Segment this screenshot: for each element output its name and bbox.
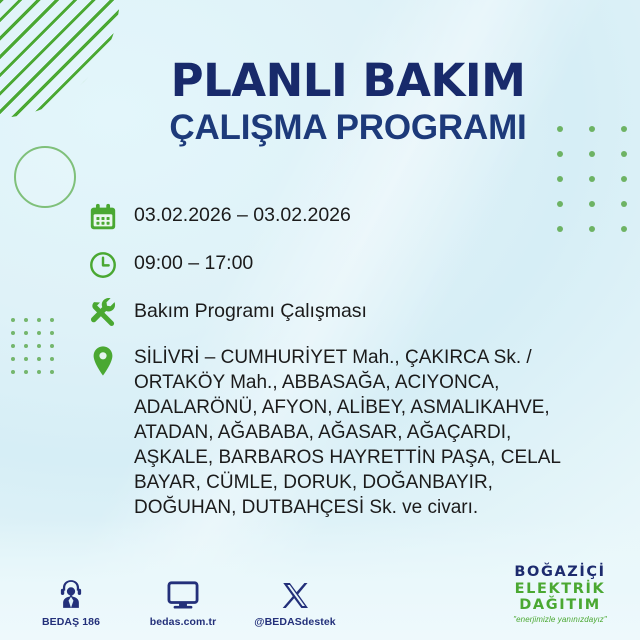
title-line-1: PLANLI BAKIM [148,58,548,103]
info-row-date: 03.02.2026 – 03.02.2026 [86,200,600,234]
monitor-website-icon [167,576,199,610]
tools-icon [86,296,120,330]
time-range-text: 09:00 – 17:00 [134,248,253,274]
brand-line-1: BOĞAZİÇİ [494,564,626,580]
date-range-text: 03.02.2026 – 03.02.2026 [134,200,351,226]
info-row-work: Bakım Programı Çalışması [86,296,600,330]
map-pin-icon [86,344,120,378]
info-list: 03.02.2026 – 03.02.2026 09:00 – 17:00 [86,200,600,535]
brand-tagline: "enerjimizle yanınızdayız" [494,615,626,624]
footer: BEDAŞ 186 bedas.com.tr [0,548,640,640]
page-title: PLANLI BAKIM ÇALIŞMA PROGRAMI [148,58,548,145]
diagonal-stripes-decoration [0,0,120,118]
calendar-icon [86,200,120,234]
brand-line-3: DAĞITIM [494,597,626,613]
contact-website-label: bedas.com.tr [150,616,217,628]
work-type-text: Bakım Programı Çalışması [134,296,367,322]
info-row-time: 09:00 – 17:00 [86,248,600,282]
title-line-2: ÇALIŞMA PROGRAMI [148,110,548,145]
contact-phone[interactable]: BEDAŞ 186 [28,576,114,628]
brand-line-2: ELEKTRİK [494,581,626,597]
info-row-address: SİLİVRİ – CUMHURİYET Mah., ÇAKIRCA Sk. /… [86,344,600,521]
contact-list: BEDAŞ 186 bedas.com.tr [28,576,338,628]
company-logo: BOĞAZİÇİ ELEKTRİK DAĞITIM "enerjimizle y… [494,564,626,624]
clock-icon [86,248,120,282]
contact-website[interactable]: bedas.com.tr [140,576,226,628]
contact-x[interactable]: @BEDASdestek [252,576,338,628]
headset-support-icon [56,576,86,610]
planned-maintenance-poster: PLANLI BAKIM ÇALIŞMA PROGRAMI [0,0,640,640]
x-twitter-icon [281,576,309,610]
circle-outline-decoration [14,146,76,208]
contact-x-label: @BEDASdestek [254,616,335,628]
contact-phone-label: BEDAŞ 186 [42,616,100,628]
address-text: SİLİVRİ – CUMHURİYET Mah., ÇAKIRCA Sk. /… [134,344,574,521]
